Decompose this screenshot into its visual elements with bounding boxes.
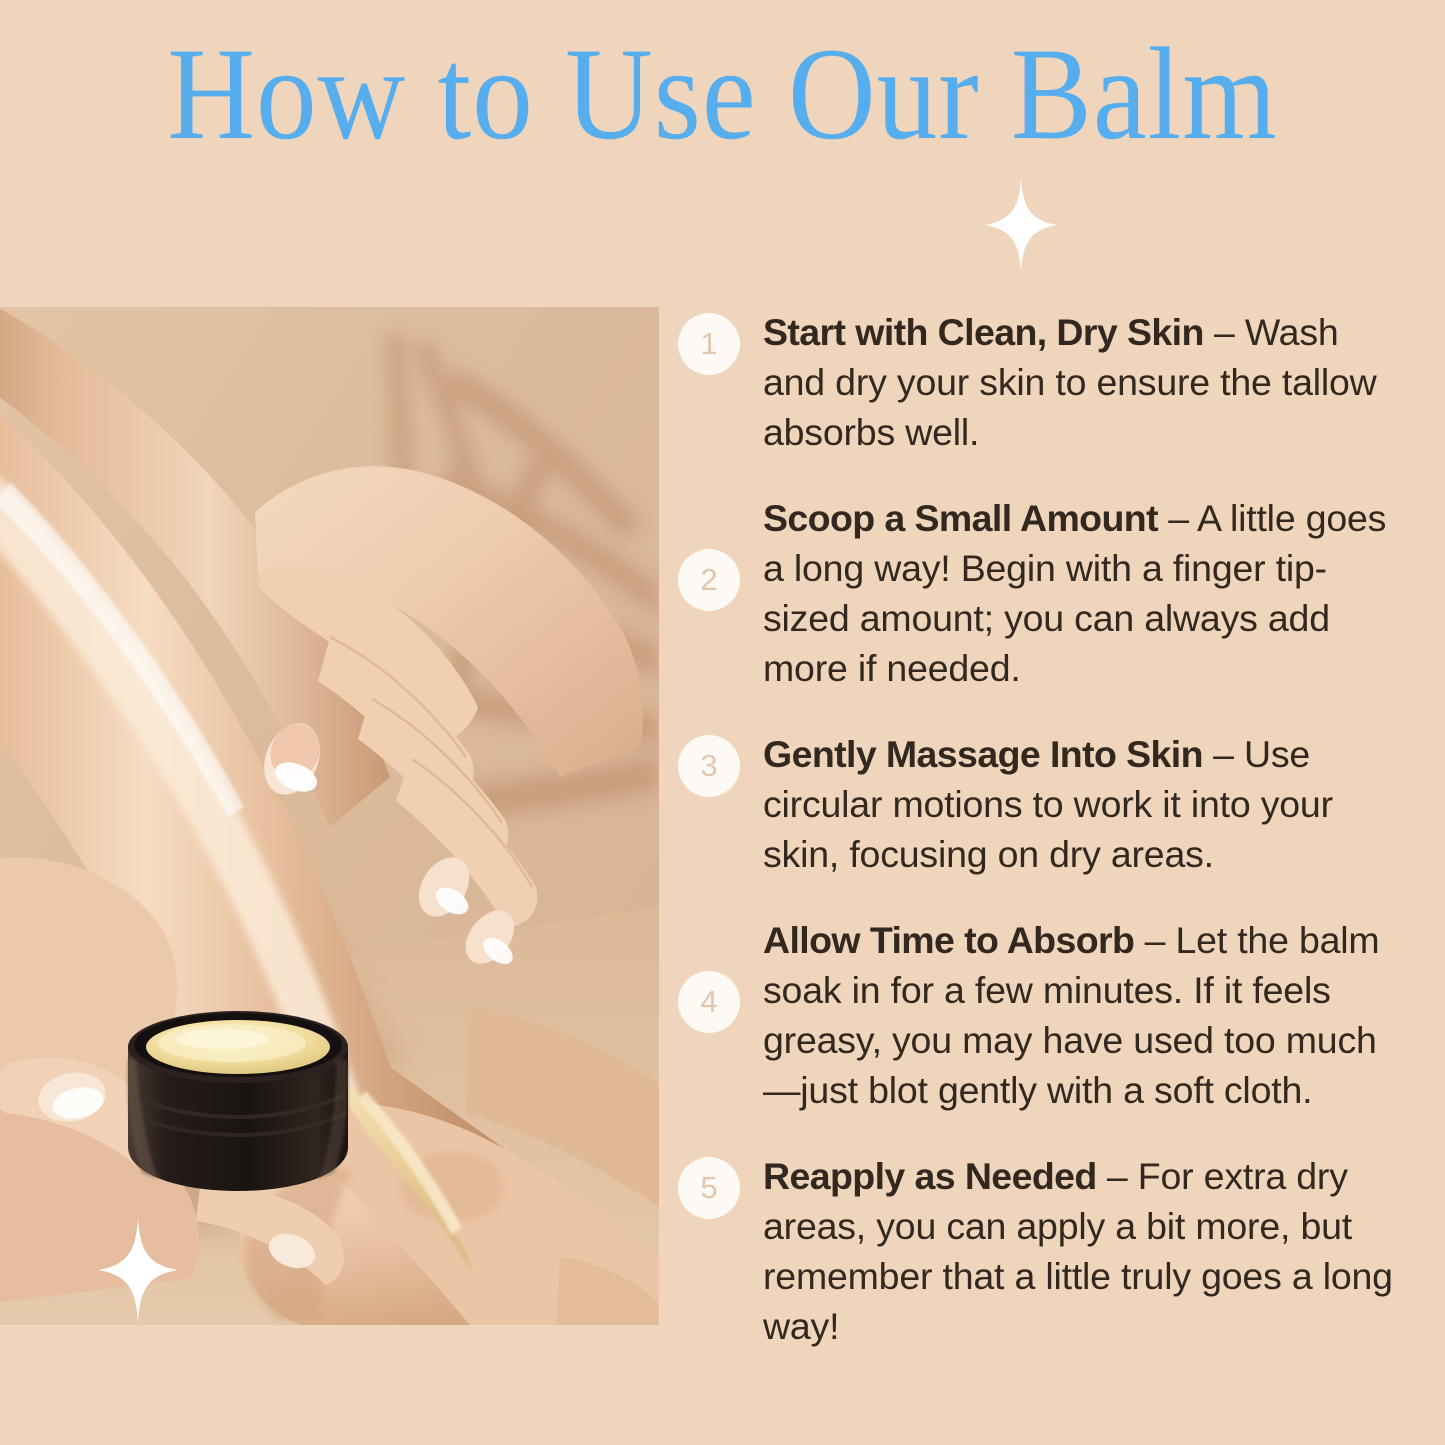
page-title: How to Use Our Balm [58,28,1387,160]
step-title: Reapply as Needed [763,1155,1097,1197]
step-title: Start with Clean, Dry Skin [763,311,1204,353]
step-title: Allow Time to Absorb [763,919,1134,961]
step-number-badge: 2 [678,549,740,611]
step-number-badge: 1 [678,313,740,375]
header-banner: How to Use Our Balm [0,0,1445,307]
step-text: Start with Clean, Dry Skin – Wash and dr… [763,307,1408,457]
step-title: Gently Massage Into Skin [763,733,1203,775]
list-item: 1 Start with Clean, Dry Skin – Wash and … [678,307,1408,457]
step-number-badge: 5 [678,1157,740,1219]
step-text: Scoop a Small Amount – A little goes a l… [763,493,1408,693]
list-item: 2 Scoop a Small Amount – A little goes a… [678,493,1408,693]
step-text: Gently Massage Into Skin – Use circular … [763,729,1408,879]
step-text: Reapply as Needed – For extra dry areas,… [763,1151,1408,1351]
list-item: 4 Allow Time to Absorb – Let the balm so… [678,915,1408,1115]
product-photo [0,307,659,1325]
step-title: Scoop a Small Amount [763,497,1158,539]
step-number-badge: 4 [678,971,740,1033]
list-item: 5 Reapply as Needed – For extra dry area… [678,1151,1408,1351]
step-text: Allow Time to Absorb – Let the balm soak… [763,915,1408,1115]
list-item: 3 Gently Massage Into Skin – Use circula… [678,729,1408,879]
step-number-badge: 3 [678,735,740,797]
instruction-steps-list: 1 Start with Clean, Dry Skin – Wash and … [678,307,1408,1387]
